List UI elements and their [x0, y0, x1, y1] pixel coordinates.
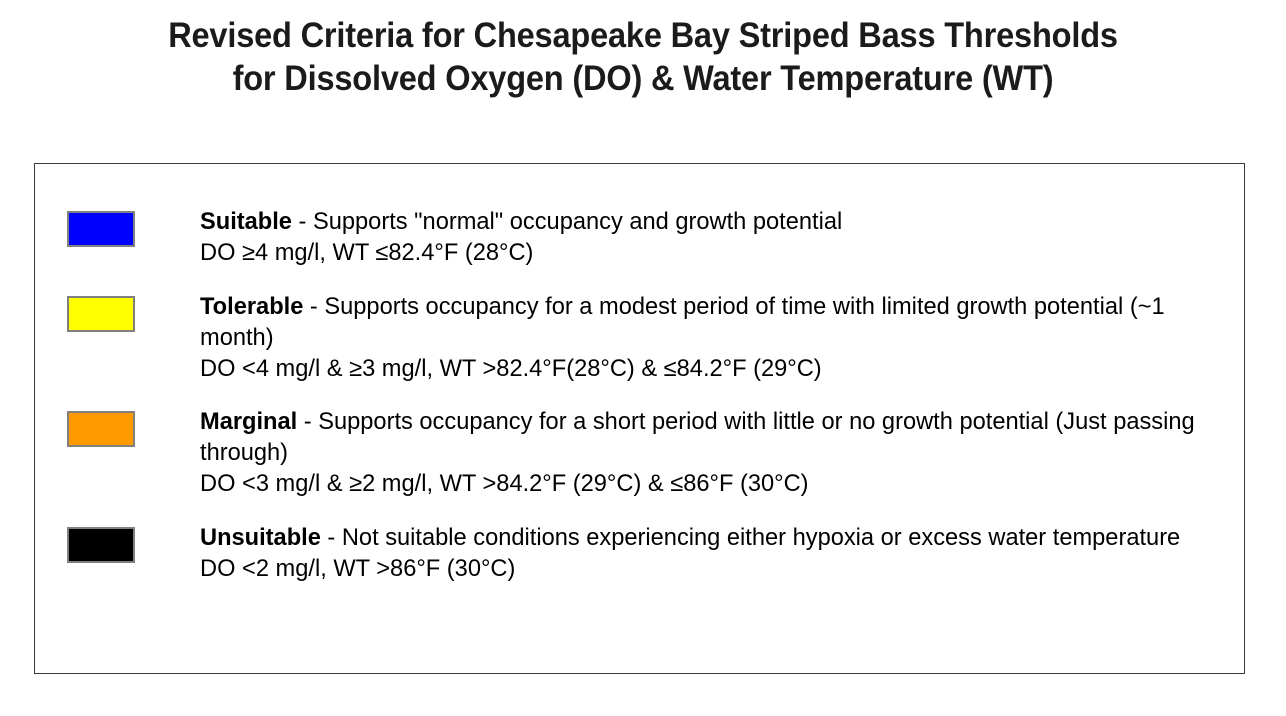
legend-list: Suitable - Supports "normal" occupancy a… [67, 206, 1244, 584]
legend-panel: Suitable - Supports "normal" occupancy a… [34, 163, 1245, 674]
unsuitable-description: - Not suitable conditions experiencing e… [321, 524, 1180, 551]
unsuitable-thresholds: DO <2 mg/l, WT >86°F (30°C) [200, 553, 1228, 584]
page-title-line-2: for Dissolved Oxygen (DO) & Water Temper… [45, 57, 1241, 100]
suitable-label: Suitable [200, 208, 292, 235]
marginal-color-swatch [67, 411, 135, 447]
tolerable-description: - Supports occupancy for a modest period… [200, 293, 1165, 351]
page-title-line-1: Revised Criteria for Chesapeake Bay Stri… [45, 14, 1241, 57]
suitable-thresholds: DO ≥4 mg/l, WT ≤82.4°F (28°C) [200, 237, 1228, 268]
unsuitable-color-swatch [67, 527, 135, 563]
suitable-color-swatch [67, 211, 135, 247]
suitable-description: - Supports "normal" occupancy and growth… [292, 208, 842, 235]
tolerable-thresholds: DO <4 mg/l & ≥3 mg/l, WT >82.4°F(28°C) &… [200, 353, 1228, 384]
suitable-text: Suitable - Supports "normal" occupancy a… [200, 206, 1228, 268]
legend-entry-suitable: Suitable - Supports "normal" occupancy a… [67, 206, 1244, 268]
legend-entry-marginal: Marginal - Supports occupancy for a shor… [67, 406, 1244, 499]
tolerable-text: Tolerable - Supports occupancy for a mod… [200, 291, 1228, 384]
legend-entry-unsuitable: Unsuitable - Not suitable conditions exp… [67, 522, 1244, 584]
marginal-thresholds: DO <3 mg/l & ≥2 mg/l, WT >84.2°F (29°C) … [200, 468, 1228, 499]
marginal-label: Marginal [200, 408, 297, 435]
marginal-text: Marginal - Supports occupancy for a shor… [200, 406, 1228, 499]
marginal-description: - Supports occupancy for a short period … [200, 408, 1195, 466]
legend-entry-tolerable: Tolerable - Supports occupancy for a mod… [67, 291, 1244, 384]
unsuitable-label: Unsuitable [200, 524, 321, 551]
tolerable-color-swatch [67, 296, 135, 332]
page-title: Revised Criteria for Chesapeake Bay Stri… [0, 14, 1286, 100]
unsuitable-text: Unsuitable - Not suitable conditions exp… [200, 522, 1228, 584]
tolerable-label: Tolerable [200, 293, 303, 320]
